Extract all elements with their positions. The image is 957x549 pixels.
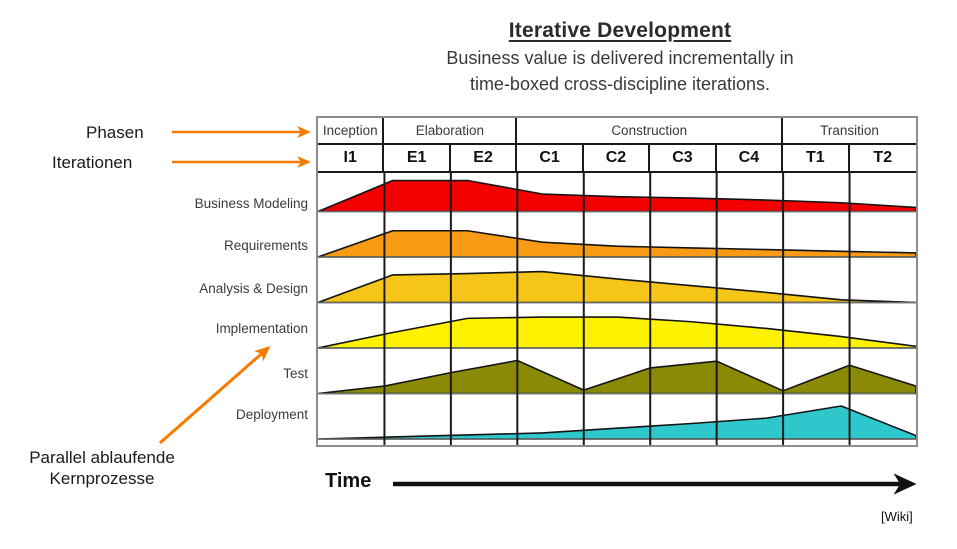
discipline-label-business-modeling: Business Modeling [140, 196, 308, 211]
diagram-canvas: Iterative Development Business value is … [0, 0, 957, 549]
iteration-header-c1: C1 [517, 144, 583, 172]
series-area-deployment [318, 406, 916, 439]
series-area-implementation [318, 317, 916, 348]
iteration-header-i1: I1 [318, 144, 384, 172]
page-title: Iterative Development [330, 18, 910, 44]
annotation-phasen: Phasen [86, 122, 144, 143]
iteration-header-t2: T2 [850, 144, 916, 172]
iteration-header-c3: C3 [650, 144, 716, 172]
series-area-test [318, 361, 916, 394]
phase-header-elaboration: Elaboration [384, 118, 517, 144]
phase-header-construction: Construction [517, 118, 783, 144]
parallel-processes-arrow-icon [160, 348, 268, 443]
discipline-label-requirements: Requirements [140, 238, 308, 253]
phase-header-transition: Transition [783, 118, 916, 144]
discipline-label-analysis-design: Analysis & Design [140, 281, 308, 296]
annotation-parallel-line-1: Parallel ablaufende [4, 447, 200, 468]
iteration-header-c4: C4 [717, 144, 783, 172]
series-area-requirements [318, 231, 916, 257]
iteration-header-c2: C2 [584, 144, 650, 172]
title-block: Iterative Development Business value is … [330, 18, 910, 96]
time-axis-label: Time [325, 470, 371, 493]
discipline-label-implementation: Implementation [140, 321, 308, 336]
annotation-parallel-processes: Parallel ablaufende Kernprozesse [4, 447, 200, 489]
source-credit: [Wiki] [881, 509, 913, 524]
subtitle-line-1: Business value is delivered incrementall… [330, 47, 910, 70]
subtitle-line-2: time-boxed cross-discipline iterations. [330, 73, 910, 96]
iteration-header-t1: T1 [783, 144, 849, 172]
series-area-business-modeling [318, 181, 916, 212]
iteration-chart: InceptionElaborationConstructionTransiti… [316, 116, 918, 447]
annotation-iterationen: Iterationen [52, 152, 132, 173]
discipline-label-deployment: Deployment [140, 407, 308, 422]
annotation-parallel-line-2: Kernprozesse [4, 468, 200, 489]
phase-header-inception: Inception [318, 118, 384, 144]
series-area-analysis-design [318, 272, 916, 303]
discipline-label-test: Test [140, 366, 308, 381]
iteration-header-e2: E2 [451, 144, 517, 172]
iteration-header-e1: E1 [384, 144, 450, 172]
